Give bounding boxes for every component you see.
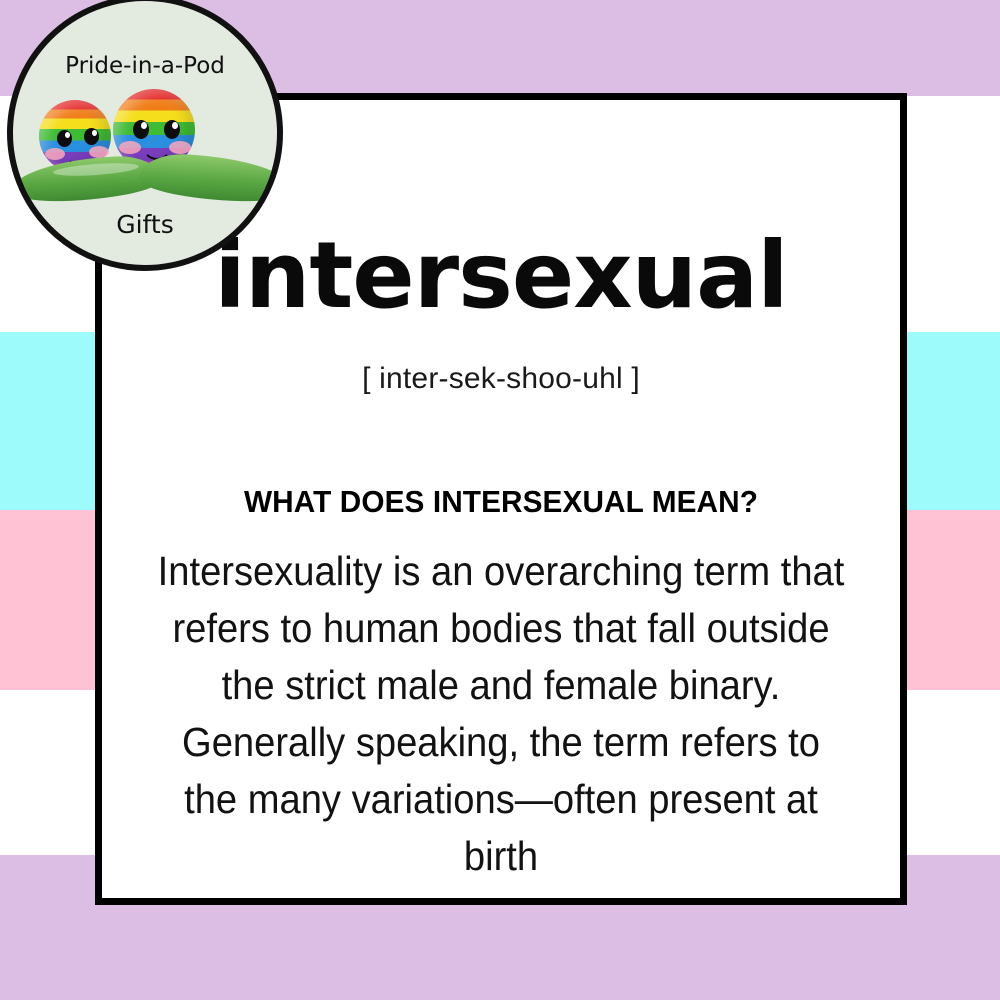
question-heading: WHAT DOES INTERSEXUAL MEAN? xyxy=(118,486,884,517)
brand-name-text: Pride-in-a-Pod xyxy=(13,53,277,79)
pronunciation-text: [ inter-sek-shoo-uhl ] xyxy=(102,364,900,394)
pea-blush-left xyxy=(45,148,65,160)
pea-blush-right xyxy=(169,141,191,154)
pea-pod-illustration xyxy=(13,86,283,206)
pea-blush-left xyxy=(119,141,141,154)
brand-logo-badge[interactable]: Pride-in-a-Pod xyxy=(7,0,283,271)
pea-left-eye xyxy=(133,120,149,139)
pea-pod-leaf-right-icon xyxy=(138,152,283,204)
brand-category-text: Gifts xyxy=(13,210,277,239)
pea-left-eye xyxy=(57,130,72,147)
definition-poster: intersexual [ inter-sek-shoo-uhl ] WHAT … xyxy=(0,0,1000,1000)
definition-body-text: Intersexuality is an overarching term th… xyxy=(150,543,851,885)
pea-right-eye xyxy=(84,128,99,145)
pea-right-eye xyxy=(164,120,180,139)
